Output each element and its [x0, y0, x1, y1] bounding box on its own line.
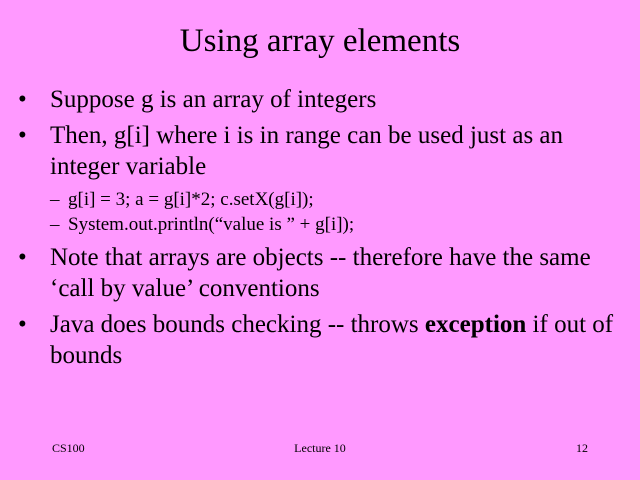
dash-icon: – — [50, 187, 68, 212]
slide-footer: CS100 Lecture 10 12 — [0, 440, 640, 460]
footer-page-number: 12 — [0, 440, 640, 456]
bullet-icon: • — [18, 120, 50, 151]
list-item: • Note that arrays are objects -- theref… — [18, 242, 622, 304]
list-item-label: Then, g[i] where i is in range can be us… — [50, 120, 622, 182]
sub-list-item: – System.out.println(“value is ” + g[i])… — [18, 212, 622, 237]
list-item: • Suppose g is an array of integers — [18, 84, 622, 115]
sub-list-item-label: g[i] = 3; a = g[i]*2; c.setX(g[i]); — [68, 187, 622, 212]
slide-body: • Suppose g is an array of integers • Th… — [18, 84, 622, 371]
list-item-label: Suppose g is an array of integers — [50, 84, 622, 115]
sub-list-item-label: System.out.println(“value is ” + g[i]); — [68, 212, 622, 237]
list-item-text-emphasis: exception — [425, 311, 526, 338]
bullet-icon: • — [18, 309, 50, 340]
slide-canvas: Using array elements • Suppose g is an a… — [0, 0, 640, 480]
sub-list-item: – g[i] = 3; a = g[i]*2; c.setX(g[i]); — [18, 187, 622, 212]
list-item: • Java does bounds checking -- throws ex… — [18, 309, 622, 371]
list-item-text-leading: Java does bounds checking -- throws — [50, 311, 425, 338]
list-item-label: Note that arrays are objects -- therefor… — [50, 242, 622, 304]
list-item-label: Java does bounds checking -- throws exce… — [50, 309, 622, 371]
list-item: • Then, g[i] where i is in range can be … — [18, 120, 622, 182]
bullet-icon: • — [18, 84, 50, 115]
bullet-icon: • — [18, 242, 50, 273]
page-title: Using array elements — [0, 22, 640, 60]
dash-icon: – — [50, 212, 68, 237]
